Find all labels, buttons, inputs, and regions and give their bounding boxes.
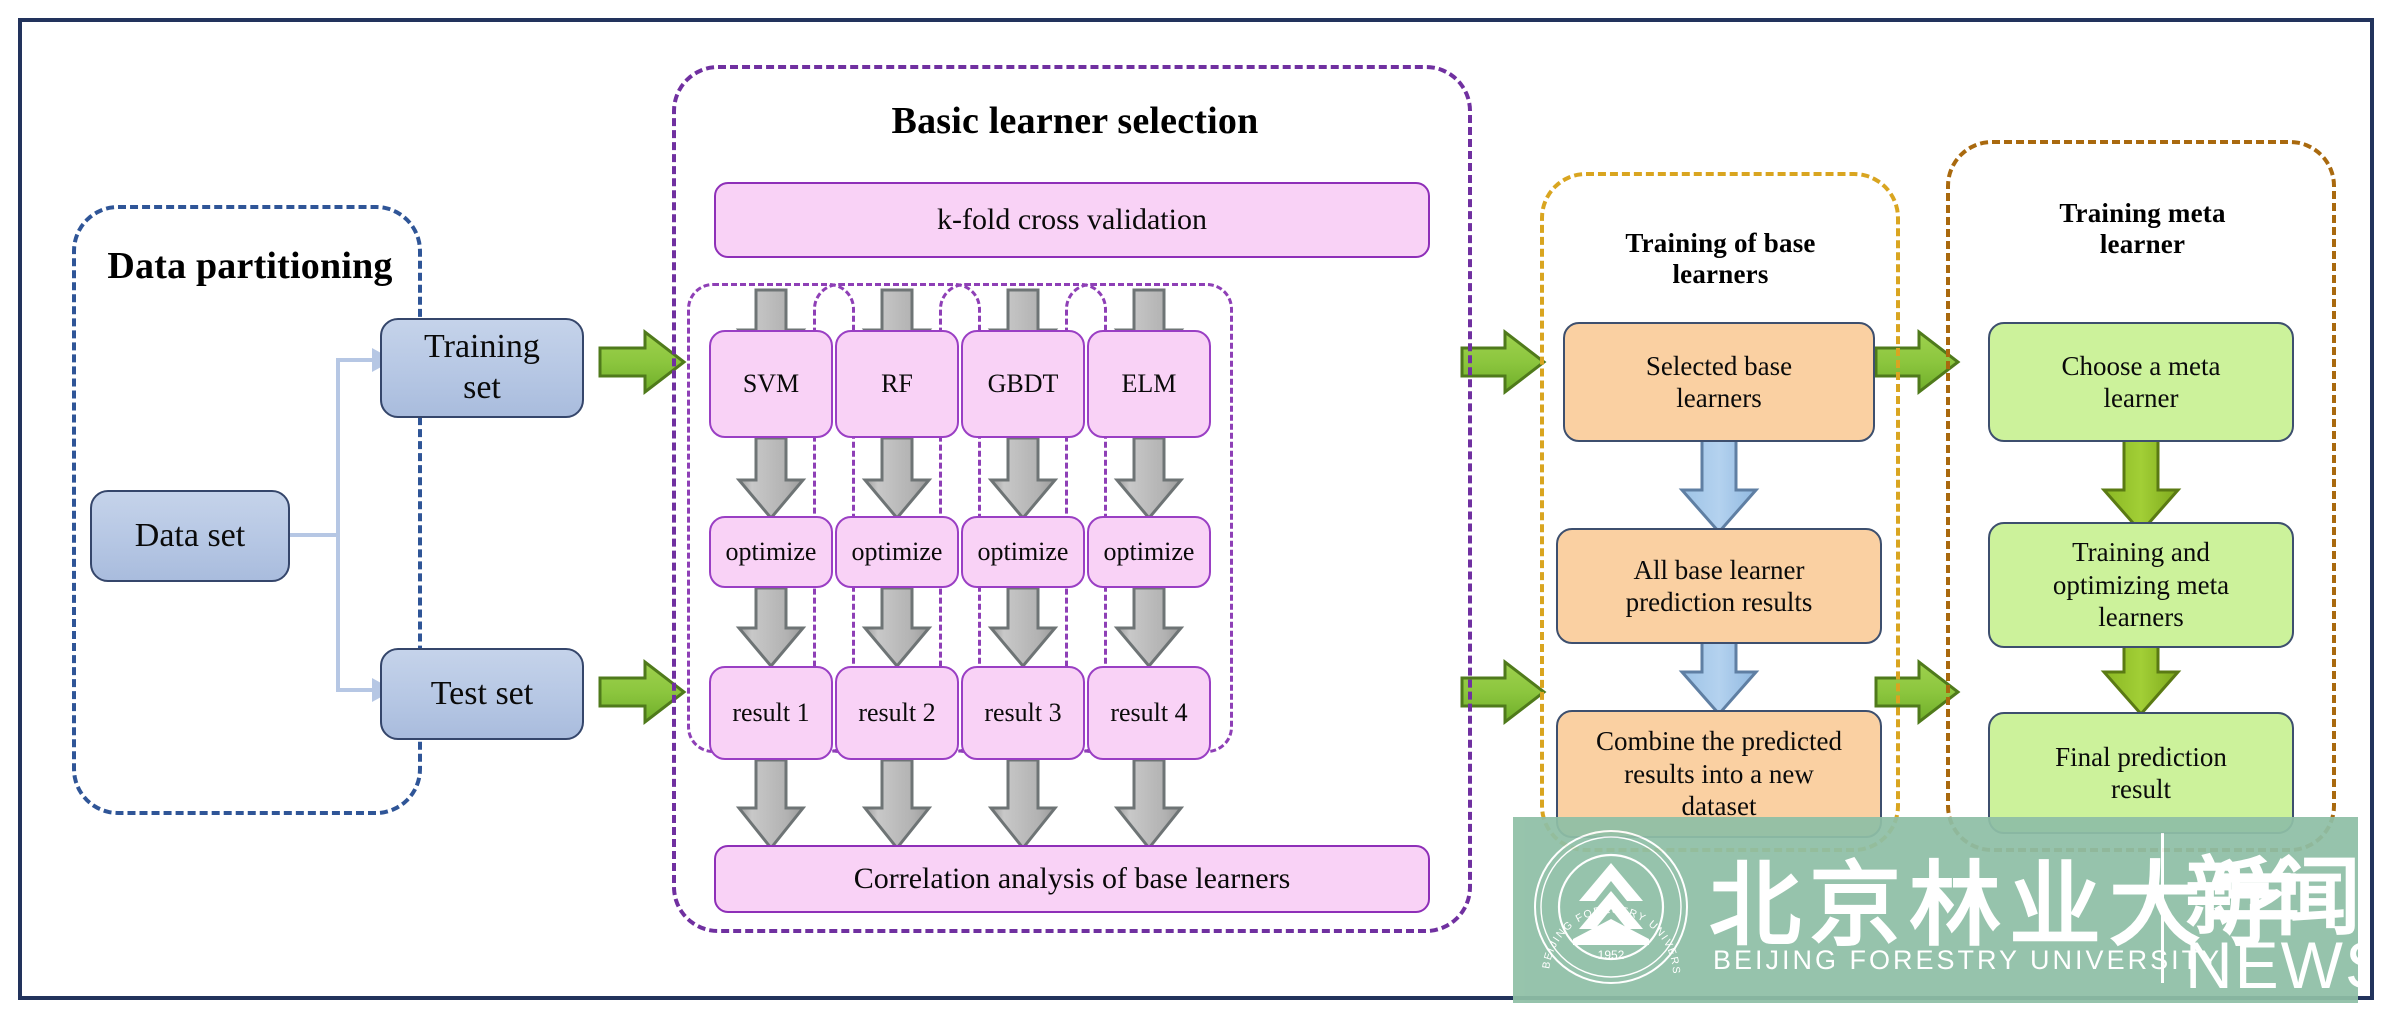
box-training-and-optimizing-meta-learners-label: Training and optimizing meta learners — [2053, 536, 2229, 633]
box-optimize-gbdt[interactable]: optimize — [961, 516, 1085, 588]
box-final-prediction-result[interactable]: Final prediction result — [1988, 712, 2294, 834]
box-data-set[interactable]: Data set — [90, 490, 290, 582]
box-optimize-rf[interactable]: optimize — [835, 516, 959, 588]
green-arrow-basic-to-trainbase-upper — [1462, 332, 1544, 392]
green-arrow-basic-to-trainbase-lower — [1462, 662, 1544, 722]
box-all-base-learner-prediction-results[interactable]: All base learner prediction results — [1556, 528, 1882, 644]
box-result-1-label: result 1 — [732, 697, 809, 728]
box-data-set-label: Data set — [135, 516, 245, 557]
watermark-university-en: BEIJING FORESTRY UNIVERSITY — [1713, 945, 2222, 976]
box-learner-gbdt[interactable]: GBDT — [961, 330, 1085, 438]
seal-year: 1952 — [1598, 948, 1625, 962]
box-learner-elm[interactable]: ELM — [1087, 330, 1211, 438]
box-choose-a-meta-learner[interactable]: Choose a meta learner — [1988, 322, 2294, 442]
diagram-canvas: Data partitioning Data set Training set … — [0, 0, 2400, 1023]
box-correlation-analysis[interactable]: Correlation analysis of base learners — [714, 845, 1430, 913]
box-k-fold-cross-validation[interactable]: k-fold cross validation — [714, 182, 1430, 258]
box-choose-a-meta-learner-label: Choose a meta learner — [2062, 350, 2221, 415]
box-optimize-rf-label: optimize — [852, 536, 943, 567]
box-learner-svm[interactable]: SVM — [709, 330, 833, 438]
box-selected-base-learners-label: Selected base learners — [1646, 350, 1792, 415]
watermark-banner: 1952 BEIJING FORESTRY UNIVERSITY 北京林业大学 … — [1513, 817, 2358, 1003]
box-all-base-learner-prediction-results-label: All base learner prediction results — [1626, 554, 1813, 619]
box-k-fold-label: k-fold cross validation — [937, 202, 1207, 238]
panel-title-data-partitioning: Data partitioning — [80, 245, 420, 289]
box-result-1[interactable]: result 1 — [709, 666, 833, 760]
panel-title-training-meta-learner: Training meta learner — [1955, 198, 2330, 260]
box-learner-svm-label: SVM — [743, 368, 799, 399]
box-selected-base-learners[interactable]: Selected base learners — [1563, 322, 1875, 442]
box-learner-elm-label: ELM — [1122, 368, 1177, 399]
box-test-set-label: Test set — [431, 674, 533, 715]
box-result-4[interactable]: result 4 — [1087, 666, 1211, 760]
box-final-prediction-result-label: Final prediction result — [2055, 741, 2227, 806]
box-result-2[interactable]: result 2 — [835, 666, 959, 760]
box-correlation-analysis-label: Correlation analysis of base learners — [854, 861, 1291, 897]
panel-title-training-of-base-learners: Training of base learners — [1548, 228, 1893, 290]
box-test-set[interactable]: Test set — [380, 648, 584, 740]
box-result-3[interactable]: result 3 — [961, 666, 1085, 760]
box-learner-gbdt-label: GBDT — [988, 368, 1059, 399]
box-combine-predicted-results-label: Combine the predicted results into a new… — [1596, 725, 1842, 822]
box-optimize-elm-label: optimize — [1104, 536, 1195, 567]
box-learner-rf[interactable]: RF — [835, 330, 959, 438]
watermark-divider — [2161, 833, 2164, 983]
watermark-news-en: NEWS — [2185, 927, 2358, 1003]
box-learner-rf-label: RF — [881, 368, 913, 399]
box-optimize-elm[interactable]: optimize — [1087, 516, 1211, 588]
box-training-set[interactable]: Training set — [380, 318, 584, 418]
university-seal-logo: 1952 BEIJING FORESTRY UNIVERSITY — [1531, 827, 1691, 987]
box-training-set-label: Training set — [424, 327, 540, 409]
panel-title-basic-learner-selection: Basic learner selection — [690, 100, 1460, 144]
box-optimize-svm-label: optimize — [726, 536, 817, 567]
box-optimize-gbdt-label: optimize — [978, 536, 1069, 567]
box-result-2-label: result 2 — [858, 697, 935, 728]
box-training-and-optimizing-meta-learners[interactable]: Training and optimizing meta learners — [1988, 522, 2294, 648]
box-optimize-svm[interactable]: optimize — [709, 516, 833, 588]
box-result-3-label: result 3 — [984, 697, 1061, 728]
box-result-4-label: result 4 — [1110, 697, 1187, 728]
